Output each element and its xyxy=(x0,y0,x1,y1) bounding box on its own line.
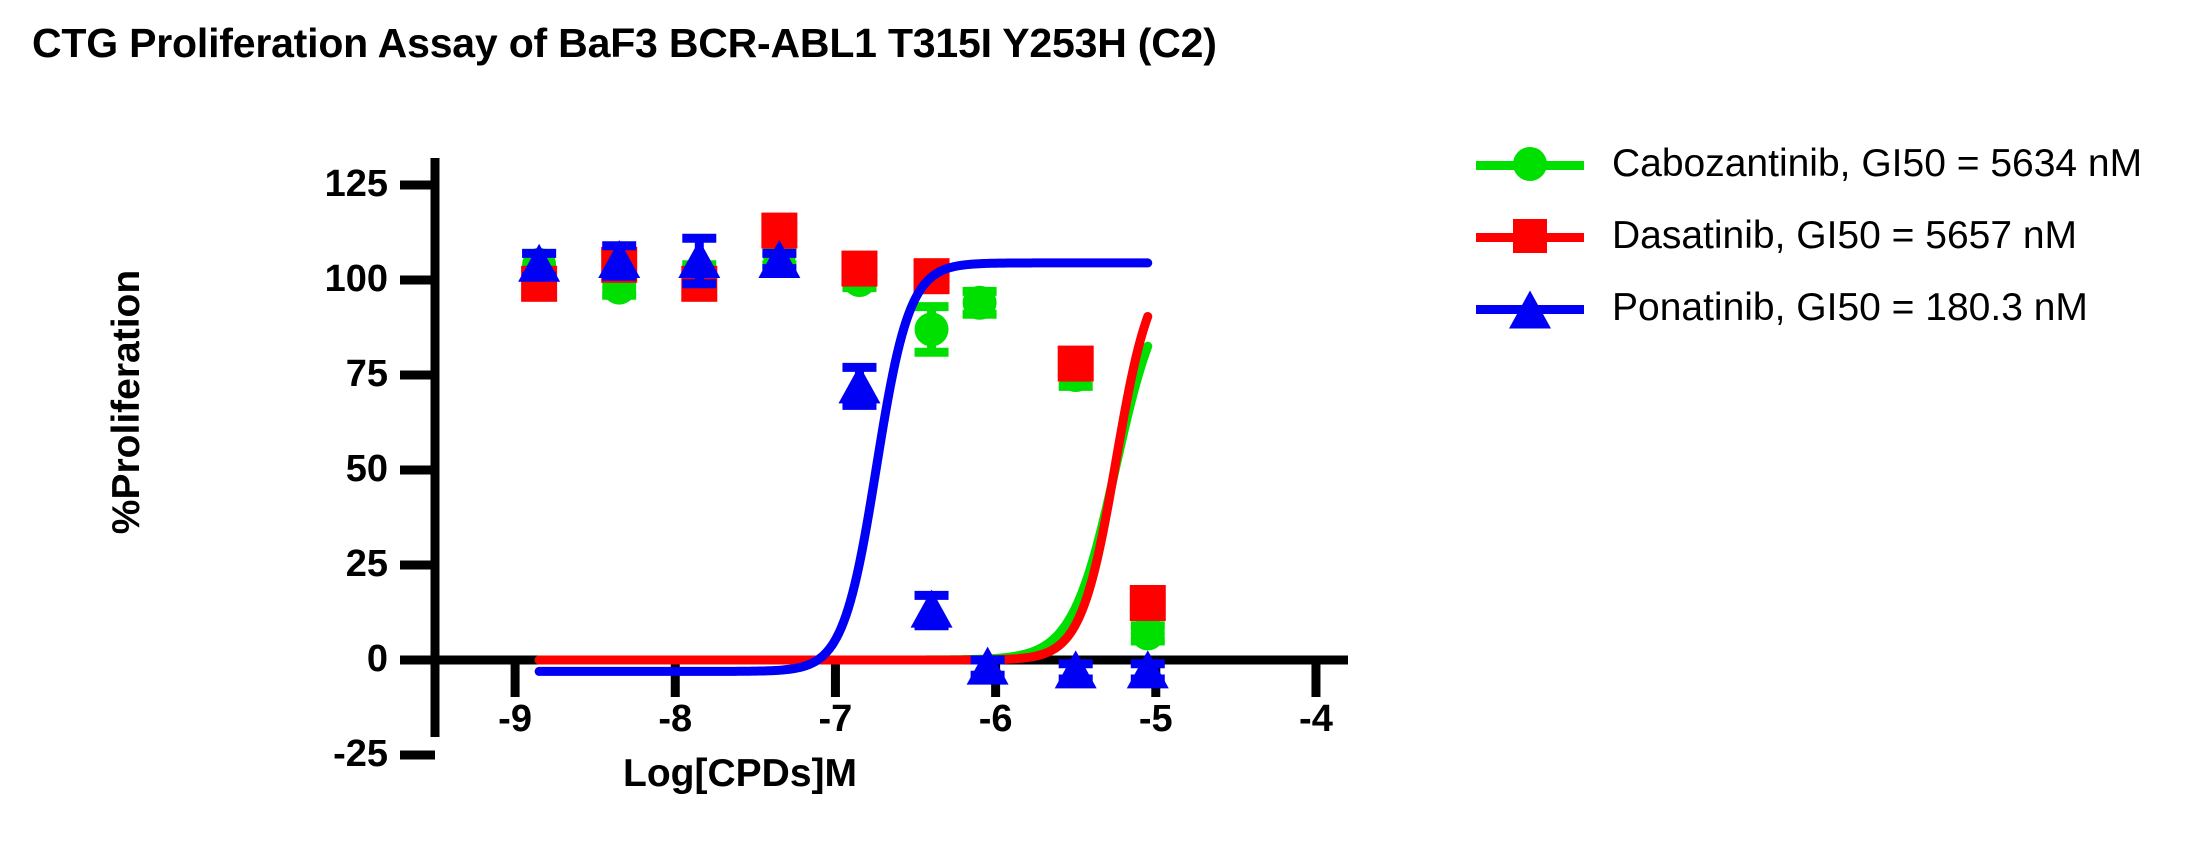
chart-legend: Cabozantinib, GI50 = 5634 nMDasatinib, G… xyxy=(1476,128,2142,344)
legend-label: Dasatinib, GI50 = 5657 nM xyxy=(1612,214,2077,258)
plot-area: -250255075100125 -9-8-7-6-5-4 %Prolifera… xyxy=(0,0,1400,855)
legend-item-dasatinib[interactable]: Dasatinib, GI50 = 5657 nM xyxy=(1476,200,2142,272)
x-tick-label: -7 xyxy=(775,700,895,738)
y-axis-ticks xyxy=(400,185,435,755)
legend-marker-square-icon xyxy=(1513,219,1547,253)
y-tick-label: -25 xyxy=(248,735,388,773)
y-tick-label: 50 xyxy=(248,450,388,488)
data-point-triangle xyxy=(678,240,720,278)
y-tick-label: 125 xyxy=(248,165,388,203)
legend-item-cabozantinib[interactable]: Cabozantinib, GI50 = 5634 nM xyxy=(1476,128,2142,200)
legend-key-icon xyxy=(1476,216,1584,256)
legend-key-icon xyxy=(1476,144,1584,184)
legend-marker-circle-icon xyxy=(1513,147,1547,181)
data-point-square xyxy=(841,251,877,287)
y-tick-label: 75 xyxy=(248,355,388,393)
legend-marker-triangle-icon xyxy=(1509,291,1551,329)
axes xyxy=(430,158,1348,737)
x-axis-title: Log[CPDs]M xyxy=(530,752,950,796)
y-axis-title: %Proliferation xyxy=(105,202,149,602)
x-tick-label: -8 xyxy=(615,700,735,738)
x-tick-label: -9 xyxy=(455,700,575,738)
x-tick-label: -4 xyxy=(1256,700,1376,738)
series-cabozantinib xyxy=(522,236,1165,660)
x-axis-ticks xyxy=(515,660,1316,697)
x-tick-label: -5 xyxy=(1096,700,1216,738)
y-tick-label: 25 xyxy=(248,545,388,583)
legend-item-ponatinib[interactable]: Ponatinib, GI50 = 180.3 nM xyxy=(1476,272,2142,344)
legend-key-icon xyxy=(1476,288,1584,328)
chart-page: CTG Proliferation Assay of BaF3 BCR-ABL1… xyxy=(0,0,2210,855)
y-tick-label: 100 xyxy=(248,260,388,298)
data-point-circle xyxy=(963,286,997,320)
x-tick-label: -6 xyxy=(936,700,1056,738)
legend-label: Ponatinib, GI50 = 180.3 nM xyxy=(1612,286,2088,330)
data-point-circle xyxy=(1131,616,1165,650)
data-point-square xyxy=(1058,346,1094,382)
data-point-square xyxy=(1130,585,1166,621)
legend-label: Cabozantinib, GI50 = 5634 nM xyxy=(1612,142,2142,186)
data-point-circle xyxy=(915,312,949,346)
data-point-triangle xyxy=(967,647,1009,685)
series-layer xyxy=(518,213,1169,689)
y-tick-label: 0 xyxy=(248,640,388,678)
fit-curve xyxy=(539,263,1148,672)
